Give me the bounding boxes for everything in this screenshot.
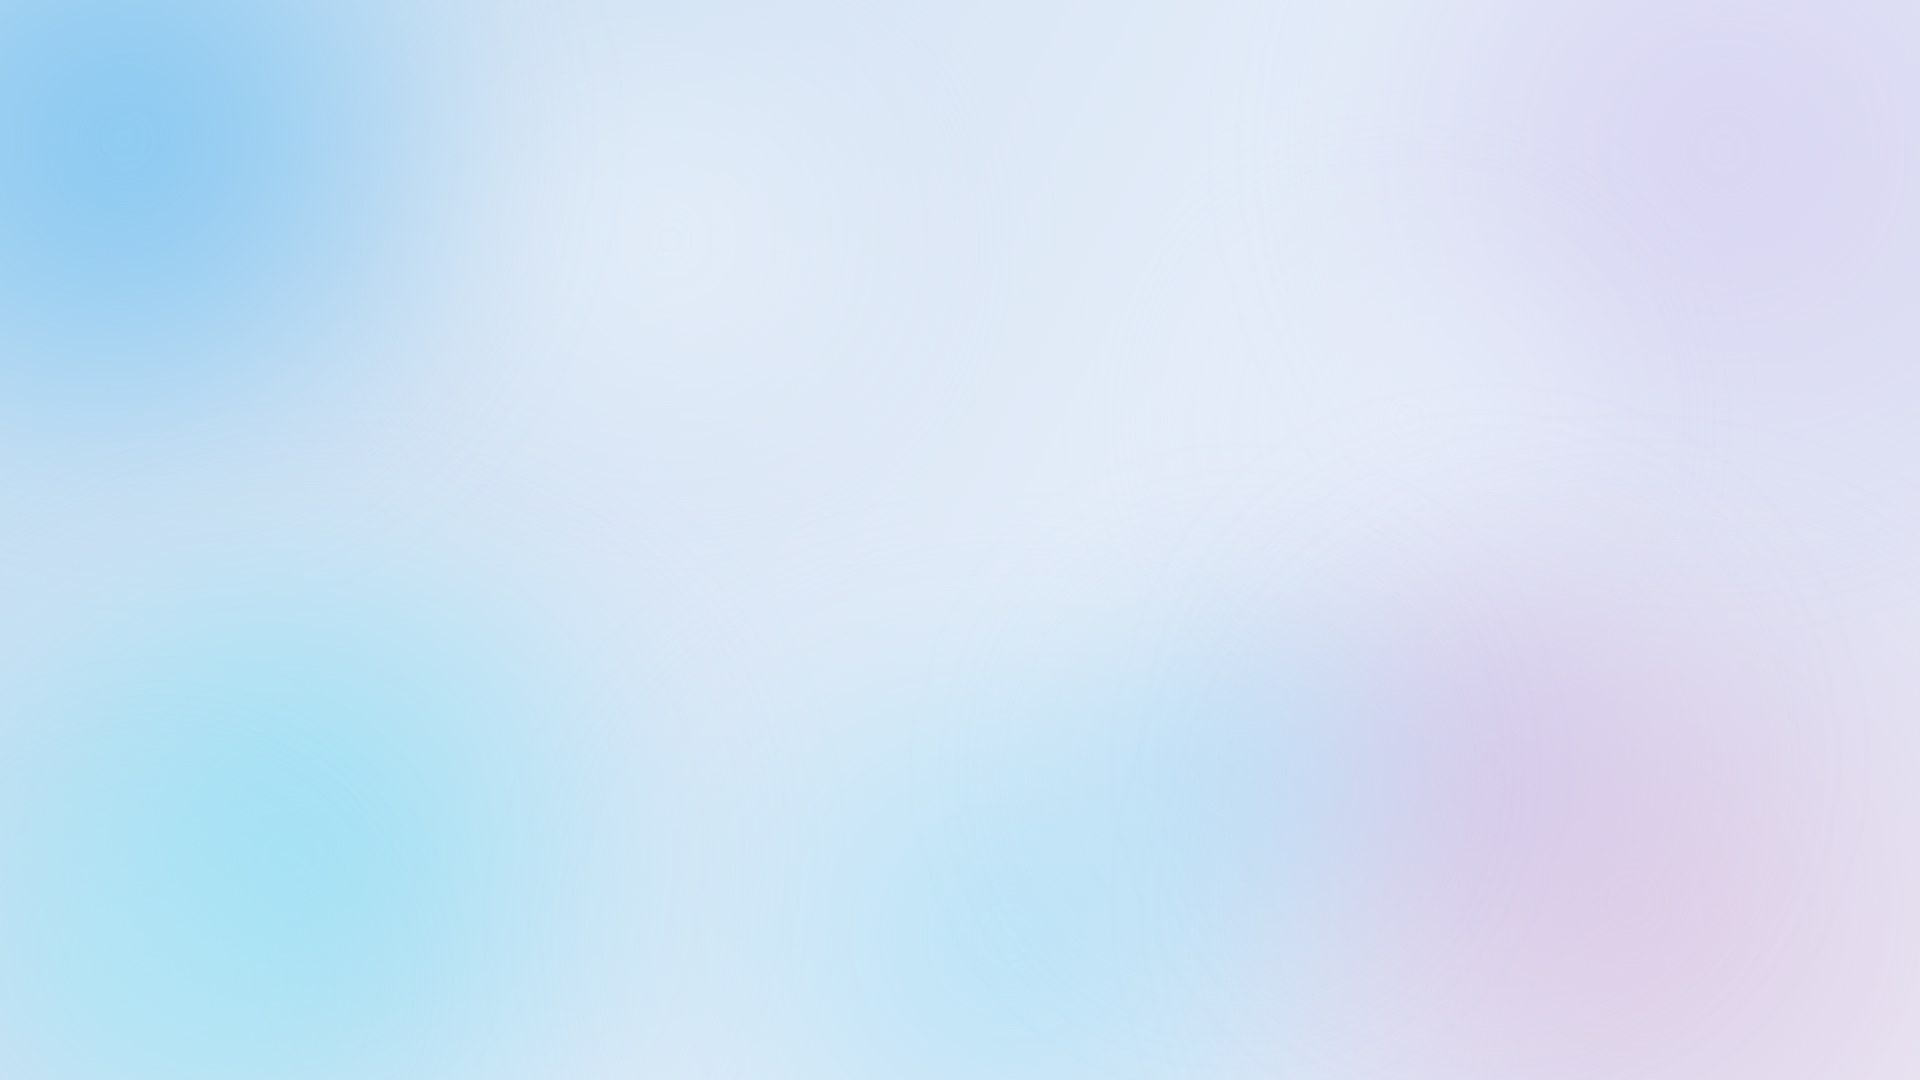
process-arrow-bar bbox=[75, 368, 1850, 460]
process-diagram bbox=[0, 0, 1920, 1080]
